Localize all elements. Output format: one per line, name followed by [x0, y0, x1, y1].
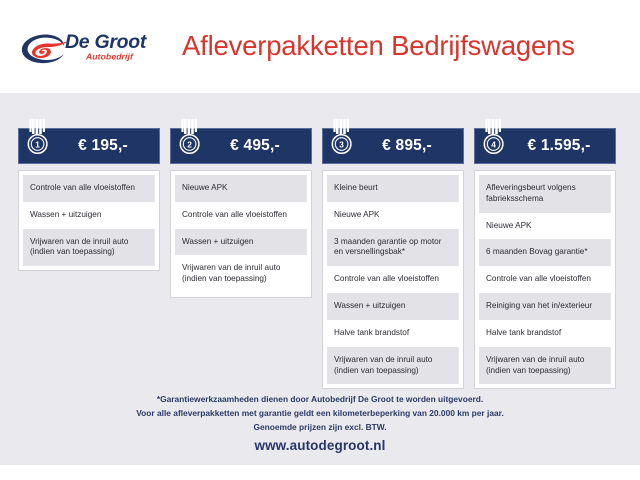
package-item: Controle van alle vloeistoffen	[327, 266, 459, 293]
logo-icon: De Groot Autobedrijf	[18, 26, 168, 74]
footnote-line-2: Voor alle afleverpakketten met garantie …	[0, 407, 640, 421]
package-item: Halve tank brandstof	[479, 320, 611, 347]
svg-text:De Groot: De Groot	[65, 31, 148, 53]
svg-text:Autobedrijf: Autobedrijf	[85, 52, 134, 62]
package-item: Vrijwaren van de inruil auto (indien van…	[23, 229, 155, 267]
package-header: 1 € 195,-	[18, 128, 160, 164]
package-item: Vrijwaren van de inruil auto (indien van…	[175, 255, 307, 293]
package-items: Kleine beurt Nieuwe APK 3 maanden garant…	[322, 170, 464, 389]
medal-rank: 2	[187, 139, 192, 149]
package-card[interactable]: 2 € 495,- Nieuwe APK Controle van alle v…	[170, 128, 312, 298]
page-title: Afleverpakketten Bedrijfswagens	[182, 30, 575, 62]
content-panel: 1 € 195,- Controle van alle vloeistoffen…	[0, 93, 640, 465]
medal-icon: 4	[482, 119, 506, 161]
package-item: Wassen + uitzuigen	[175, 229, 307, 256]
package-card[interactable]: 1 € 195,- Controle van alle vloeistoffen…	[18, 128, 160, 271]
package-item: Vrijwaren van de inruil auto (indien van…	[327, 347, 459, 385]
package-item: Nieuwe APK	[327, 202, 459, 229]
promo-page: De Groot Autobedrijf Afleverpakketten Be…	[0, 0, 640, 480]
package-item: Nieuwe APK	[175, 175, 307, 202]
package-items: Afleveringsbeurt volgens fabrieksschema …	[474, 170, 616, 389]
package-item: Nieuwe APK	[479, 213, 611, 240]
medal-icon: 1	[26, 119, 50, 161]
website-link[interactable]: www.autodegroot.nl	[0, 438, 640, 453]
medal-rank: 4	[491, 139, 496, 149]
package-price: € 1.595,-	[509, 137, 615, 155]
package-item: Kleine beurt	[327, 175, 459, 202]
package-item: 6 maanden Bovag garantie*	[479, 239, 611, 266]
footnote-line-1: *Garantiewerkzaamheden dienen door Autob…	[0, 393, 640, 407]
package-item: Wassen + uitzuigen	[23, 202, 155, 229]
de-groot-logo[interactable]: De Groot Autobedrijf	[18, 26, 168, 74]
footnote-block: *Garantiewerkzaamheden dienen door Autob…	[0, 393, 640, 435]
package-price: € 495,-	[205, 137, 311, 155]
package-item: Controle van alle vloeistoffen	[175, 202, 307, 229]
package-price: € 195,-	[53, 137, 159, 155]
page-header: De Groot Autobedrijf Afleverpakketten Be…	[0, 0, 640, 93]
medal-rank: 1	[35, 139, 40, 149]
package-header: 4 € 1.595,-	[474, 128, 616, 164]
package-items: Nieuwe APK Controle van alle vloeistoffe…	[170, 170, 312, 298]
package-item: Controle van alle vloeistoffen	[23, 175, 155, 202]
package-item: Halve tank brandstof	[327, 320, 459, 347]
package-list: 1 € 195,- Controle van alle vloeistoffen…	[18, 128, 622, 389]
medal-icon: 3	[330, 119, 354, 161]
package-item: 3 maanden garantie op motor en versnelli…	[327, 229, 459, 267]
package-card[interactable]: 3 € 895,- Kleine beurt Nieuwe APK 3 maan…	[322, 128, 464, 389]
footnote-line-3: Genoemde prijzen zijn excl. BTW.	[0, 421, 640, 435]
package-item: Reiniging van het in/exterieur	[479, 293, 611, 320]
package-price: € 895,-	[357, 137, 463, 155]
package-header: 3 € 895,-	[322, 128, 464, 164]
package-item: Afleveringsbeurt volgens fabrieksschema	[479, 175, 611, 213]
package-item: Vrijwaren van de inruil auto (indien van…	[479, 347, 611, 385]
medal-icon: 2	[178, 119, 202, 161]
package-item: Controle van alle vloeistoffen	[479, 266, 611, 293]
medal-rank: 3	[339, 139, 344, 149]
package-header: 2 € 495,-	[170, 128, 312, 164]
package-card[interactable]: 4 € 1.595,- Afleveringsbeurt volgens fab…	[474, 128, 616, 389]
package-item: Wassen + uitzuigen	[327, 293, 459, 320]
package-items: Controle van alle vloeistoffen Wassen + …	[18, 170, 160, 271]
